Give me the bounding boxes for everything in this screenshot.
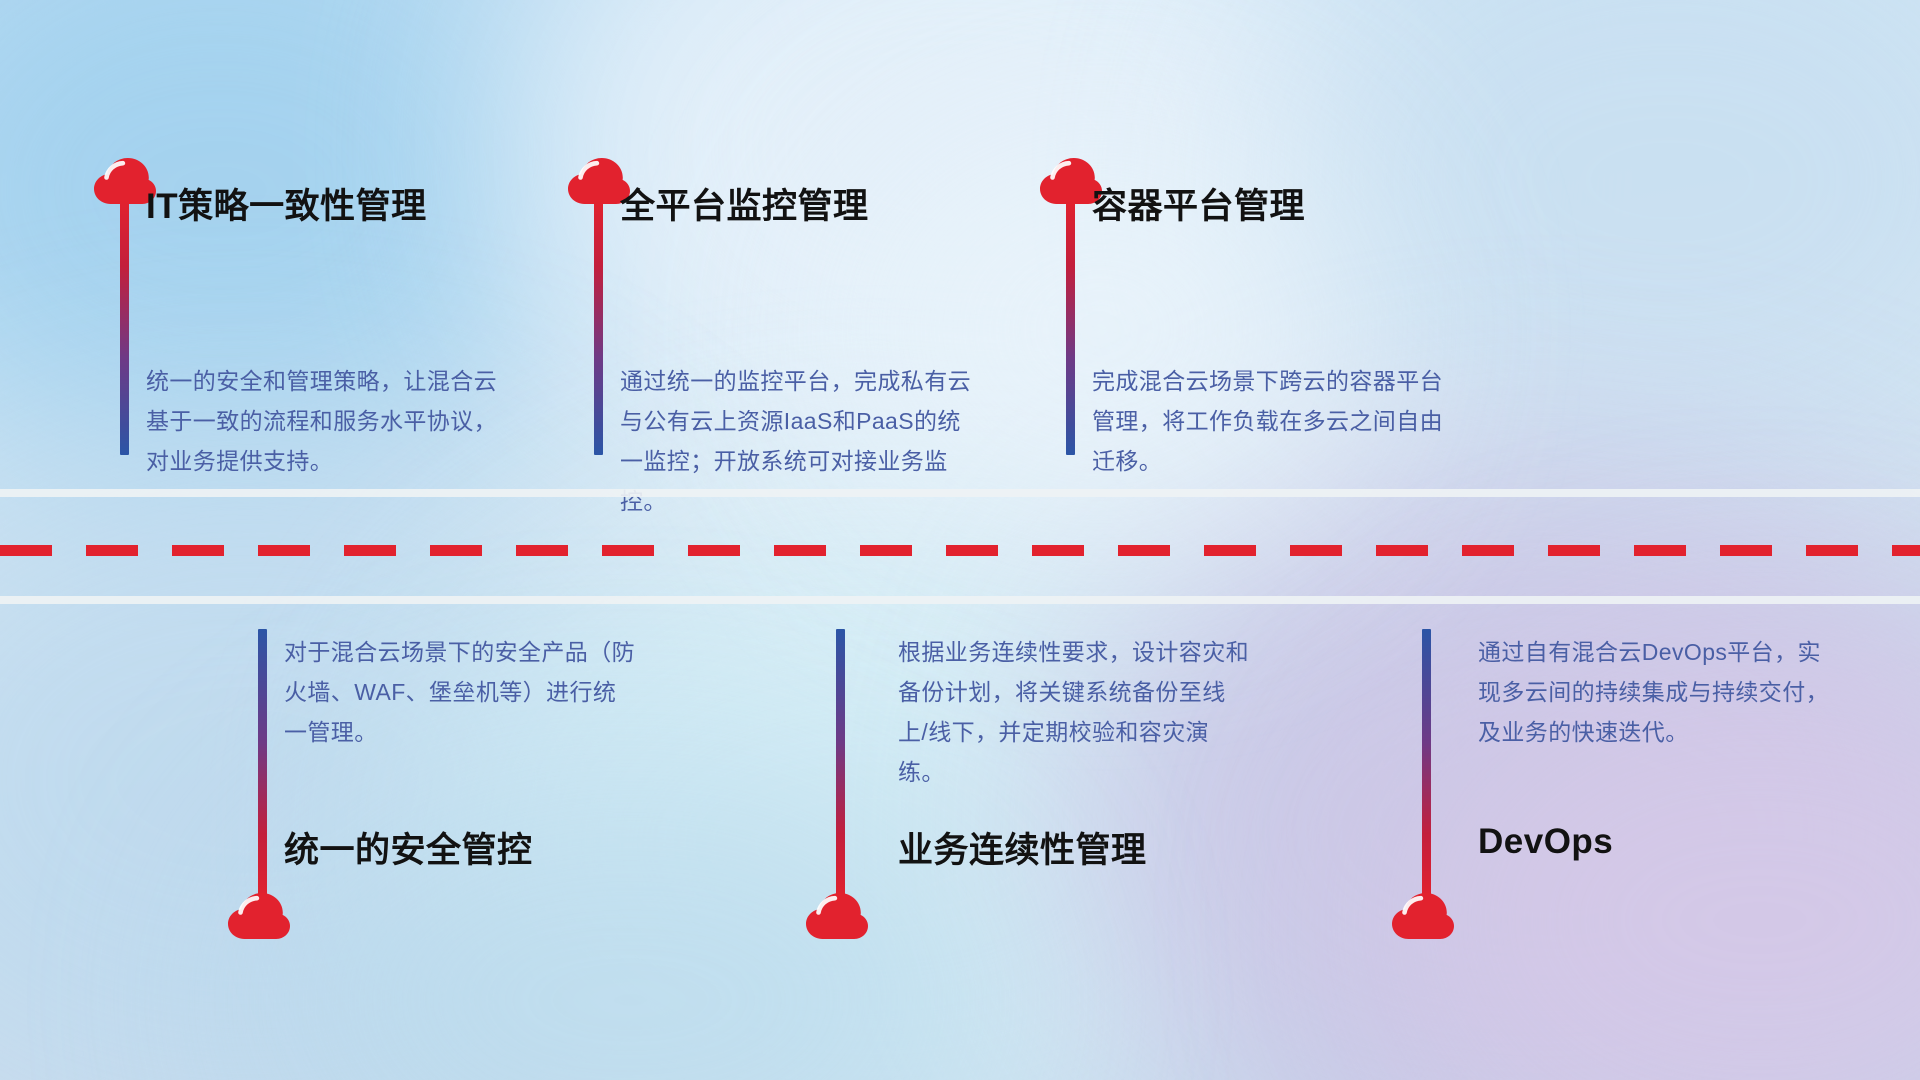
- pin-stem: [1422, 629, 1431, 899]
- divider-dashed-line: [0, 545, 1920, 556]
- cloud-icon: [1392, 893, 1454, 940]
- panel-body: 根据业务连续性要求，设计容灾和备份计划，将关键系统备份至线上/线下，并定期校验和…: [898, 632, 1250, 792]
- cloud-icon: [228, 893, 290, 940]
- pin-stem: [258, 629, 267, 899]
- panel-title: 业务连续性管理: [898, 822, 1147, 873]
- panel-body: 统一的安全和管理策略，让混合云基于一致的流程和服务水平协议，对业务提供支持。: [146, 361, 498, 481]
- panel-body: 完成混合云场景下跨云的容器平台管理，将工作负载在多云之间自由迁移。: [1092, 361, 1444, 481]
- pin-stem: [594, 200, 603, 455]
- divider-rule-bottom: [0, 596, 1920, 604]
- panel-title: IT策略一致性管理: [146, 178, 427, 229]
- panel-title: DevOps: [1478, 822, 1613, 862]
- divider-rule-top: [0, 489, 1920, 497]
- panel-title: 全平台监控管理: [620, 178, 869, 229]
- panel-body: 通过自有混合云DevOps平台，实现多云间的持续集成与持续交付，及业务的快速迭代…: [1478, 632, 1830, 752]
- infographic-canvas: IT策略一致性管理 统一的安全和管理策略，让混合云基于一致的流程和服务水平协议，…: [0, 0, 1920, 1080]
- panel-title: 统一的安全管控: [284, 822, 533, 873]
- panel-body: 对于混合云场景下的安全产品（防火墙、WAF、堡垒机等）进行统一管理。: [284, 632, 636, 752]
- panel-body: 通过统一的监控平台，完成私有云与公有云上资源IaaS和PaaS的统一监控；开放系…: [620, 361, 972, 521]
- pin-stem: [1066, 200, 1075, 455]
- panel-title: 容器平台管理: [1092, 178, 1305, 229]
- pin-stem: [836, 629, 845, 899]
- cloud-icon: [806, 893, 868, 940]
- pin-stem: [120, 200, 129, 455]
